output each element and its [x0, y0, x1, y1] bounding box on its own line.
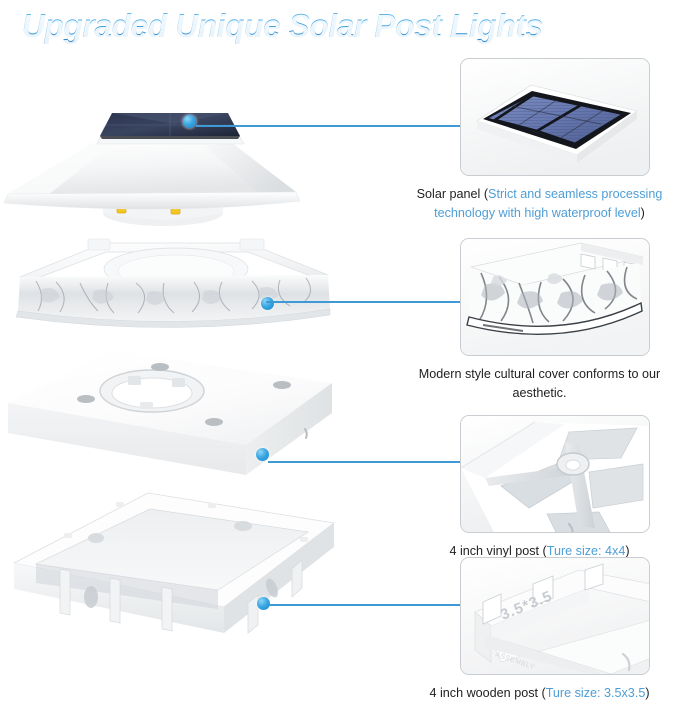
page-title: Upgraded Unique Solar Post Lights: [22, 7, 543, 45]
caption-text-plain: 4 inch wooden post (: [429, 686, 545, 700]
caption-text-plain: 4 inch vinyl post (: [449, 544, 546, 558]
product-part-solar-lid-cap: [0, 100, 330, 230]
crystal-cover-detail-box: [460, 238, 650, 356]
wooden-post-detail-box: 3.5*3.5 ASSEMBLY: [460, 557, 650, 675]
caption-text-highlight: Ture size: 4x4: [547, 544, 626, 558]
caption-text-plain: Modern style cultural cover conforms to …: [419, 367, 660, 400]
caption-crystal-cover: Modern style cultural cover conforms to …: [405, 365, 674, 403]
hotspot-dot-vinyl-base: [256, 448, 269, 461]
caption-solar-panel: Solar panel (Strict and seamless process…: [405, 185, 674, 223]
hotspot-dot-crystal-cover: [261, 297, 274, 310]
page-title-bar: Upgraded Unique Solar Post Lights: [0, 0, 679, 52]
callout-crystal-cover: Modern style cultural cover conforms to …: [405, 238, 674, 403]
callout-wooden-post: 3.5*3.5 ASSEMBLY 4 inch wooden post (Tur…: [405, 557, 674, 703]
solar-panel-detail-box: [460, 58, 650, 176]
callout-solar-panel: Solar panel (Strict and seamless process…: [405, 58, 674, 223]
caption-text-plain-2: ): [645, 686, 649, 700]
product-part-vinyl-base: [0, 345, 340, 495]
caption-text-plain-2: ): [641, 206, 645, 220]
hotspot-dot-solar-panel: [183, 115, 196, 128]
exploded-product-stack: [0, 55, 400, 695]
product-part-crystal-cover: [8, 235, 338, 345]
product-part-post-adapter: [0, 485, 340, 645]
vinyl-post-detail-box: [460, 415, 650, 533]
caption-text-highlight: Ture size: 3.5x3.5: [546, 686, 646, 700]
caption-text-plain-2: ): [625, 544, 629, 558]
caption-text-plain: Solar panel (: [417, 187, 488, 201]
caption-wooden-post: 4 inch wooden post (Ture size: 3.5x3.5): [405, 684, 674, 703]
infographic-page: Upgraded Unique Solar Post Lights: [0, 0, 679, 704]
callout-vinyl-post: 4 inch vinyl post (Ture size: 4x4): [405, 415, 674, 561]
